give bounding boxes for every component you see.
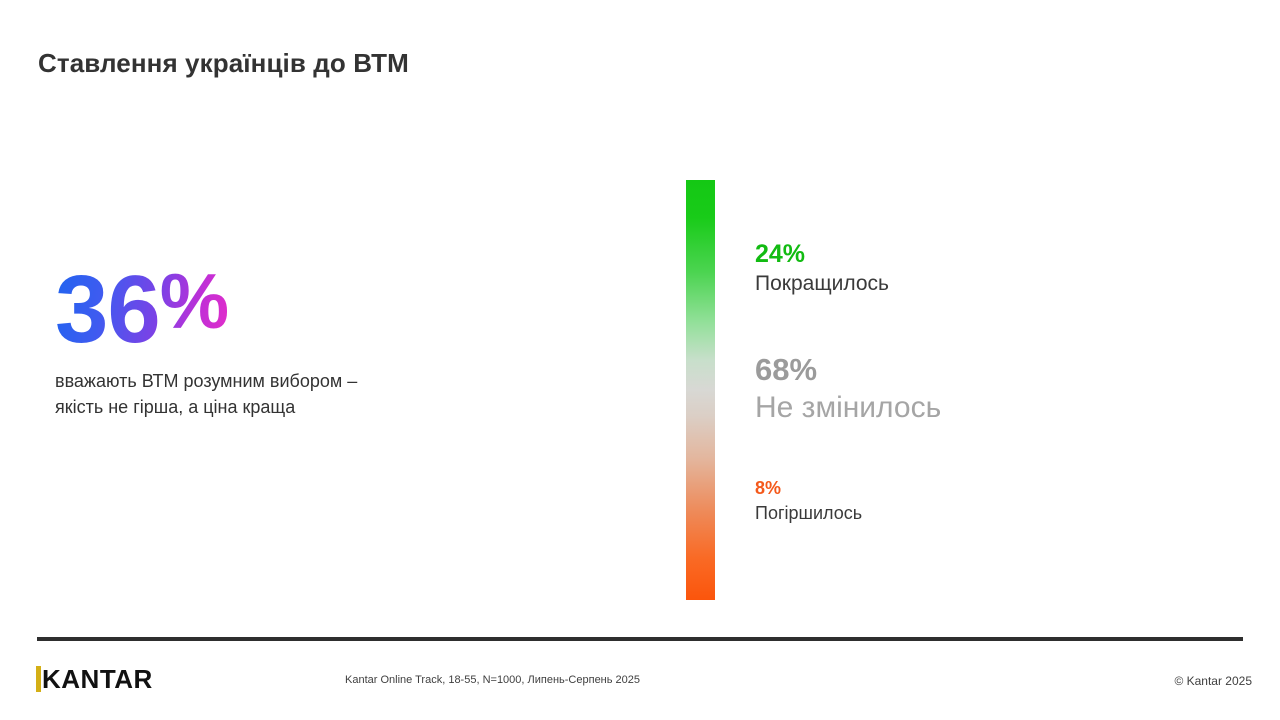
footer-source-note: Kantar Online Track, 18-55, N=1000, Липе… [345, 674, 640, 686]
stat-label-improved: Покращилось [755, 271, 889, 297]
stat-label-unchanged: Не змінилось [755, 389, 941, 427]
stat-block-improved: 24% Покращилось [755, 240, 889, 297]
page-title: Ставлення українців до ВТМ [38, 48, 409, 79]
stat-value-worsened: 8% [755, 478, 862, 499]
hero-stat-block: 36% вважають ВТМ розумним вибором – якіс… [55, 262, 525, 420]
kantar-logo-wordmark: KANTAR [42, 666, 153, 692]
stat-label-worsened: Погіршилось [755, 502, 862, 525]
kantar-logo-accent-bar [36, 666, 41, 692]
footer-divider [37, 637, 1243, 641]
sentiment-gradient-bar [686, 180, 715, 600]
footer-copyright: © Kantar 2025 [1174, 674, 1252, 688]
stat-block-worsened: 8% Погіршилось [755, 478, 862, 524]
hero-caption-line-2: якість не гірша, а ціна краща [55, 394, 525, 420]
stat-block-unchanged: 68% Не змінилось [755, 352, 941, 426]
hero-stat-value: 36% [55, 262, 227, 358]
kantar-logo: KANTAR [36, 666, 153, 692]
hero-caption-line-1: вважають ВТМ розумним вибором – [55, 368, 525, 394]
hero-stat-caption: вважають ВТМ розумним вибором – якість н… [55, 368, 525, 420]
stat-value-unchanged: 68% [755, 352, 941, 388]
hero-stat-percent-sign: % [160, 257, 227, 345]
stat-value-improved: 24% [755, 240, 889, 269]
hero-stat-number: 36 [55, 256, 160, 363]
